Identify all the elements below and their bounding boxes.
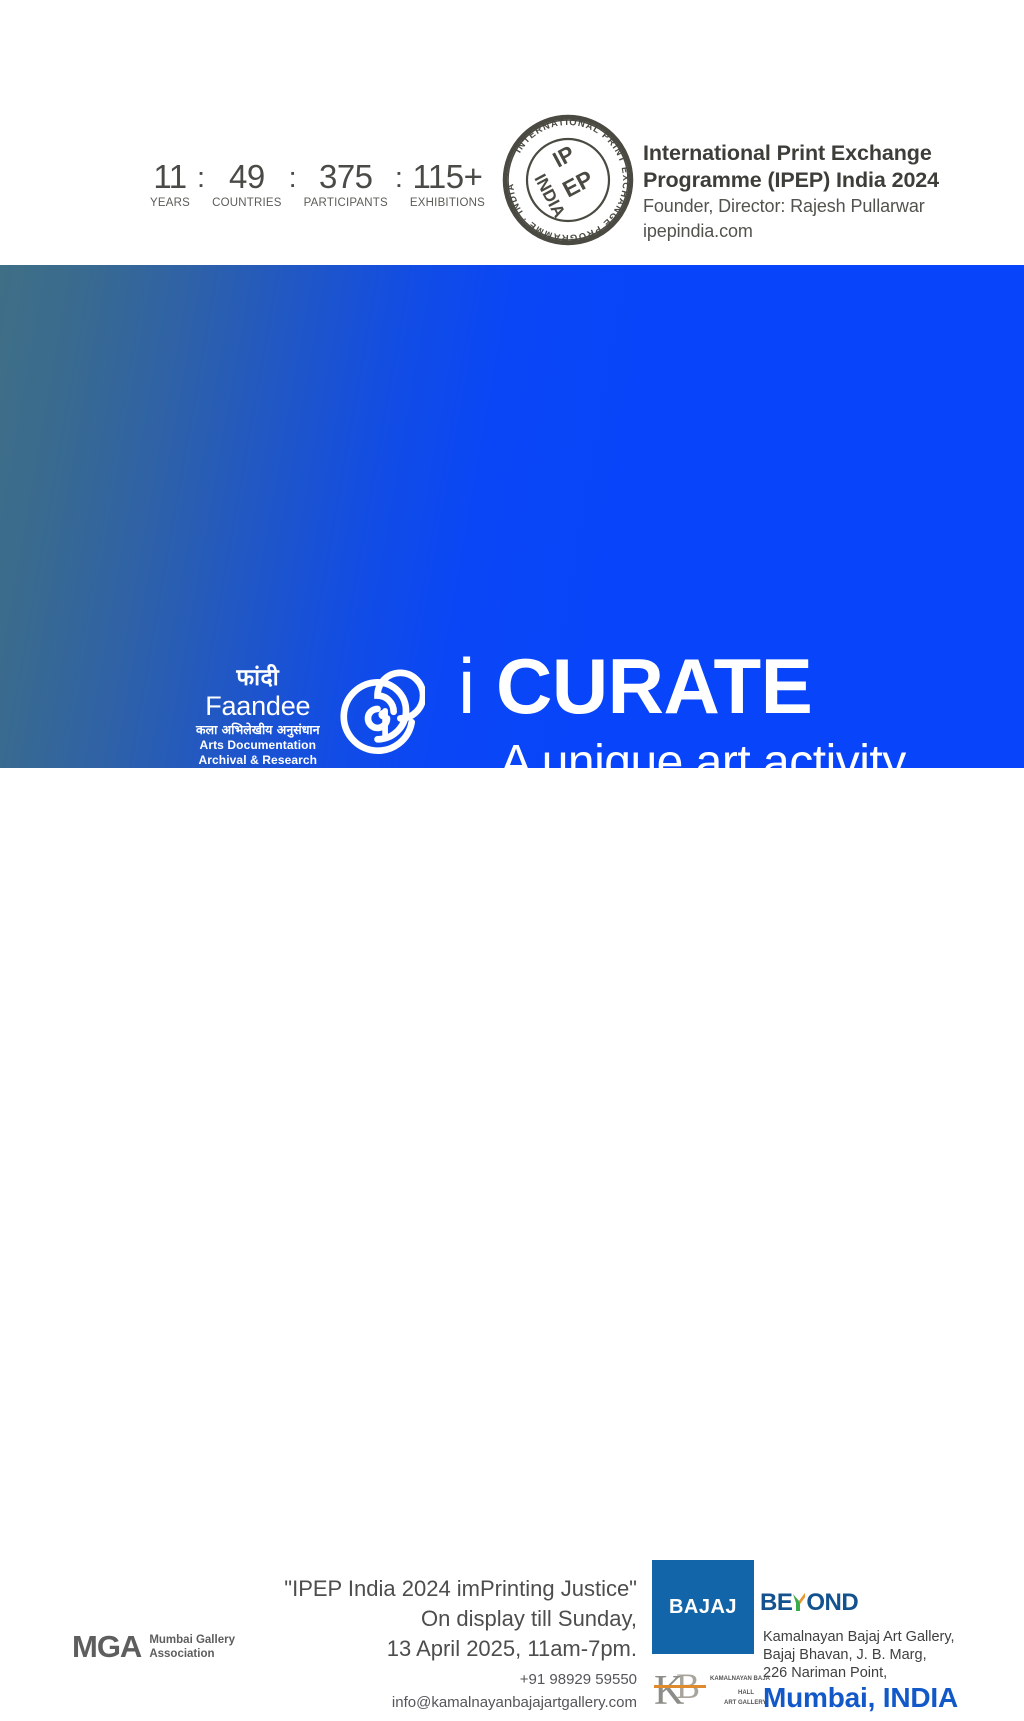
exhibition-info: "IPEP India 2024 imPrinting Justice" On … (260, 1574, 637, 1664)
faandee-tagline-line1: Arts Documentation (196, 738, 320, 753)
faandee-latin-name: Faandee (196, 691, 320, 721)
title-main: CURATE (496, 642, 812, 730)
stat-exhibitions: 115+ EXHIBITIONS (410, 160, 485, 210)
mga-name: Mumbai Gallery Association (149, 1633, 235, 1661)
stat-label: YEARS (150, 196, 190, 210)
venue-line1: Kamalnayan Bajaj Art Gallery, (763, 1628, 955, 1646)
stat-countries: 49 COUNTRIES (212, 160, 282, 210)
stat-separator: : (282, 163, 304, 210)
contact-info: +91 98929 59550 info@kamalnayanbajajartg… (260, 1668, 637, 1714)
ipep-heading-block: International Print Exchange Programme (… (643, 140, 1003, 244)
mga-name-line2: Association (149, 1647, 235, 1661)
stat-label: COUNTRIES (212, 196, 282, 210)
faandee-logo: फांदी Faandee कला अभिलेखीय अनुसंधान Arts… (196, 665, 425, 767)
beyond-prefix: BE (760, 1590, 792, 1616)
page-title: i CURATE (458, 643, 812, 729)
ipep-website[interactable]: ipepindia.com (643, 219, 1003, 244)
venue-line3: 226 Nariman Point, (763, 1664, 955, 1682)
mga-logo: MGA Mumbai Gallery Association (72, 1630, 235, 1664)
bajaj-wordmark: BAJAJ (669, 1596, 737, 1618)
svg-text:KAMALNAYAN BAJAJ: KAMALNAYAN BAJAJ (710, 1676, 770, 1682)
venue-address: Kamalnayan Bajaj Art Gallery, Bajaj Bhav… (763, 1628, 955, 1682)
contact-email[interactable]: info@kamalnayanbajajartgallery.com (260, 1691, 637, 1714)
kamalnayan-bajaj-gallery-logo: K B KAMALNAYAN BAJAJ HALL ART GALLERY (652, 1658, 770, 1716)
stat-number: 49 (229, 160, 265, 194)
main-blue-banner: फांदी Faandee कला अभिलेखीय अनुसंधान Arts… (0, 265, 1024, 768)
footer-section: MGA Mumbai Gallery Association "IPEP Ind… (0, 768, 1024, 1024)
mga-monogram: MGA (72, 1630, 141, 1664)
stat-number: 11 (153, 160, 186, 194)
rubber-stamp-icon: INTERNATIONAL PRINT EXCHANGE PROGRAMME ·… (498, 110, 638, 250)
exhibition-date-line: 13 April 2025, 11am-7pm. (260, 1634, 637, 1664)
svg-text:HALL: HALL (738, 1690, 754, 1696)
ipep-title-line1: International Print Exchange (643, 140, 1003, 167)
exhibition-display-line: On display till Sunday, (260, 1604, 637, 1634)
svg-text:IP: IP (549, 141, 579, 173)
svg-text:EP: EP (558, 165, 597, 202)
stat-label: EXHIBITIONS (410, 196, 485, 210)
beyond-logo: BE OND (760, 1590, 858, 1616)
stat-number: 375 (319, 160, 373, 194)
stat-number: 115+ (413, 160, 483, 194)
mga-name-line1: Mumbai Gallery (149, 1633, 235, 1647)
stat-label: PARTICIPANTS (304, 196, 388, 210)
spiral-icon (330, 669, 425, 764)
svg-text:ART GALLERY: ART GALLERY (724, 1700, 766, 1706)
stat-separator: : (190, 163, 212, 210)
venue-city: Mumbai, INDIA (763, 1681, 958, 1715)
faandee-devanagari-name: फांदी (196, 665, 320, 691)
ipep-founder: Founder, Director: Rajesh Pullarwar (643, 194, 1003, 219)
beyond-chevron-icon (792, 1592, 806, 1612)
exhibition-title: "IPEP India 2024 imPrinting Justice" (260, 1574, 637, 1604)
event-tagline: A unique art activity (500, 735, 906, 768)
stat-participants: 375 PARTICIPANTS (304, 160, 388, 210)
ipep-title-line2: Programme (IPEP) India 2024 (643, 167, 1003, 194)
beyond-suffix: OND (806, 1590, 858, 1616)
stat-years: 11 YEARS (150, 160, 190, 210)
contact-phone[interactable]: +91 98929 59550 (260, 1668, 637, 1691)
venue-line2: Bajaj Bhavan, J. B. Marg, (763, 1646, 955, 1664)
stat-separator: : (388, 163, 410, 210)
bajaj-logo: BAJAJ (652, 1560, 754, 1654)
faandee-devanagari-tagline: कला अभिलेखीय अनुसंधान (196, 721, 320, 738)
faandee-wordmark: फांदी Faandee कला अभिलेखीय अनुसंधान Arts… (196, 665, 320, 767)
title-prefix: i (458, 642, 475, 730)
header-section: 11 YEARS : 49 COUNTRIES : 375 PARTICIPAN… (0, 0, 1024, 265)
faandee-tagline-line2: Archival & Research (196, 753, 320, 768)
statistics-row: 11 YEARS : 49 COUNTRIES : 375 PARTICIPAN… (150, 160, 485, 210)
